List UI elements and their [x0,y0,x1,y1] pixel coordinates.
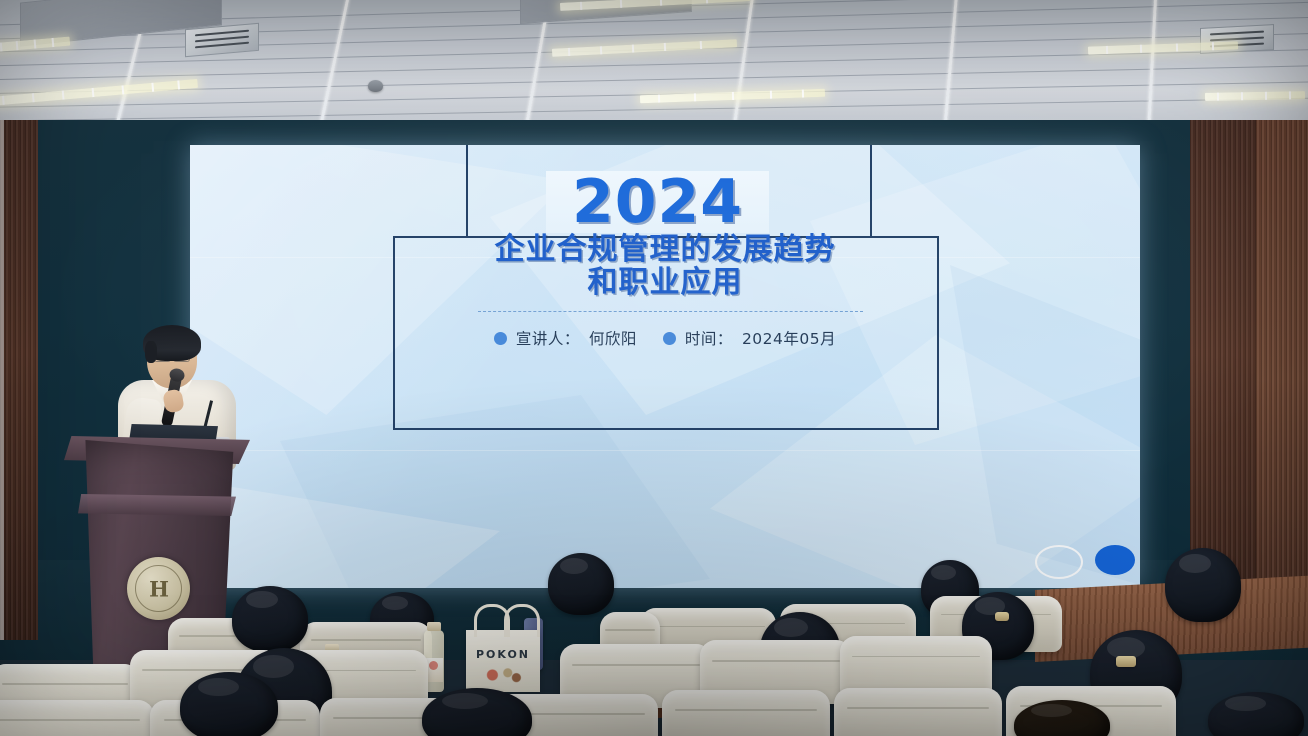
slide-decor-ring [1035,545,1083,579]
audience-head [180,672,278,736]
ceiling-light [0,79,198,106]
speaker-label: 宣讲人： [516,327,580,349]
podium-emblem-glyph: H [127,576,190,601]
slide-meta-speaker: 宣讲人： 何欣阳 [494,327,637,349]
podium-shelf [78,494,236,516]
projection-screen: 2024 企业合规管理的发展趋势 和职业应用 宣讲人： 何欣阳 时间： 2024… [190,145,1140,588]
slide-year-plaque: 2024 [546,171,769,233]
slide-title: 企业合规管理的发展趋势 和职业应用 [190,233,1140,299]
smoke-detector-icon [368,80,383,92]
hair-clip [1116,656,1136,667]
bullet-icon [663,332,676,345]
ceiling-light [640,89,825,103]
speaker-name: 何欣阳 [589,327,637,349]
audience-head [548,553,614,615]
audience-head [1208,692,1304,736]
slide-title-line1: 企业合规管理的发展趋势 [190,233,1140,266]
slide-year: 2024 [572,172,743,232]
wood-panel-right-outer [1256,120,1308,640]
slide-meta-date: 时间： 2024年05月 [663,327,836,349]
ceiling-light [552,39,737,57]
seat [0,700,154,736]
slide-title-line2: 和职业应用 [190,266,1140,299]
seat [834,688,1002,736]
seat [662,690,830,736]
podium-emblem: H [127,557,190,620]
wood-panel-left [0,120,38,640]
bullet-icon [494,332,507,345]
hair-clip [995,612,1009,621]
speaker-hair [143,325,201,361]
ceiling-light [1205,91,1305,101]
audience-head [1165,548,1241,622]
frame-tick-left [466,145,468,237]
ceiling [0,0,1308,128]
date-value: 2024年05月 [742,327,836,349]
slide-divider [478,311,863,312]
auditorium-photo: 2024 企业合规管理的发展趋势 和职业应用 宣讲人： 何欣阳 时间： 2024… [0,0,1308,736]
tote-bag: POKON [466,630,540,692]
slide-decor-dot [1095,545,1135,575]
date-label: 时间： [685,327,733,349]
frame-tick-right [870,145,872,237]
tote-bag-brand: POKON [466,648,540,661]
slide-meta: 宣讲人： 何欣阳 时间： 2024年05月 [190,327,1140,349]
air-vent [185,23,259,57]
wall-left-highlight [0,120,4,640]
audience-head [232,586,308,652]
